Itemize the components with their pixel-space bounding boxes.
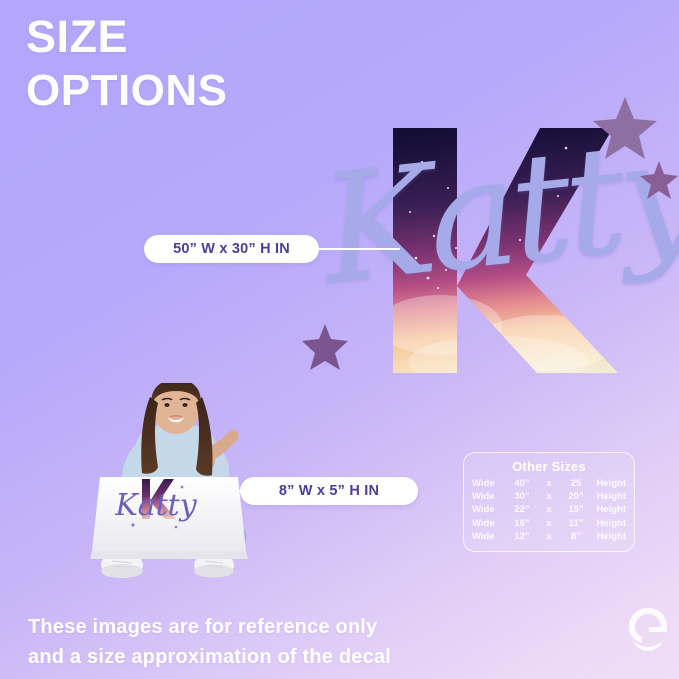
- size-row-height-label: Height: [592, 531, 626, 542]
- size-row: Wide16”x11”Height: [472, 517, 626, 530]
- size-row-height-label: Height: [592, 504, 626, 515]
- size-row-width: 16”: [506, 518, 538, 529]
- size-row-x: x: [538, 504, 560, 515]
- size-row-wide-label: Wide: [472, 478, 506, 489]
- size-row-wide-label: Wide: [472, 531, 506, 542]
- disclaimer-line-2: and a size approximation of the decal: [28, 642, 391, 672]
- brand-logo-g-icon: [624, 604, 672, 654]
- size-row-height: 15”: [560, 504, 592, 515]
- page-title: SIZE OPTIONS: [26, 10, 228, 118]
- size-row-wide-label: Wide: [472, 518, 506, 529]
- size-row: Wide22”x15”Height: [472, 503, 626, 516]
- size-row: Wide30”x20”Height: [472, 490, 626, 503]
- size-row-height: 8”: [560, 531, 592, 542]
- other-sizes-box: Other Sizes Wide40”x25HeightWide30”x20”H…: [463, 452, 635, 552]
- size-row-x: x: [538, 491, 560, 502]
- connector-line-large: [316, 248, 400, 250]
- title-line-2: OPTIONS: [26, 64, 228, 118]
- model-photo: Katty: [86, 383, 266, 583]
- size-row-height: 25: [560, 478, 592, 489]
- other-sizes-rows: Wide40”x25HeightWide30”x20”HeightWide22”…: [472, 477, 626, 543]
- size-row-height: 20”: [560, 491, 592, 502]
- size-row-wide-label: Wide: [472, 504, 506, 515]
- laptop-decal-script: Katty: [114, 488, 197, 523]
- size-row-width: 12”: [506, 531, 538, 542]
- size-row-width: 22”: [506, 504, 538, 515]
- size-row-x: x: [538, 518, 560, 529]
- size-row-x: x: [538, 531, 560, 542]
- size-label-small: 8” W x 5” H IN: [240, 477, 418, 505]
- other-sizes-title: Other Sizes: [472, 459, 626, 474]
- size-row: Wide40”x25Height: [472, 477, 626, 490]
- size-label-large: 50” W x 30” H IN: [144, 235, 319, 263]
- size-row-width: 30”: [506, 491, 538, 502]
- title-line-1: SIZE: [26, 10, 228, 64]
- size-row-wide-label: Wide: [472, 491, 506, 502]
- size-row-height-label: Height: [592, 491, 626, 502]
- disclaimer-text: These images are for reference only and …: [28, 612, 391, 672]
- star-top-right-large-icon: [592, 95, 658, 161]
- star-bottom-left-icon: [300, 322, 350, 372]
- size-row-x: x: [538, 478, 560, 489]
- size-row-width: 40”: [506, 478, 538, 489]
- size-row: Wide12”x8”Height: [472, 530, 626, 543]
- disclaimer-line-1: These images are for reference only: [28, 612, 391, 642]
- star-right-small-icon: [639, 160, 679, 200]
- size-row-height-label: Height: [592, 478, 626, 489]
- size-row-height: 11”: [560, 518, 592, 529]
- size-row-height-label: Height: [592, 518, 626, 529]
- size-options-graphic: SIZE OPTIONS: [0, 0, 679, 679]
